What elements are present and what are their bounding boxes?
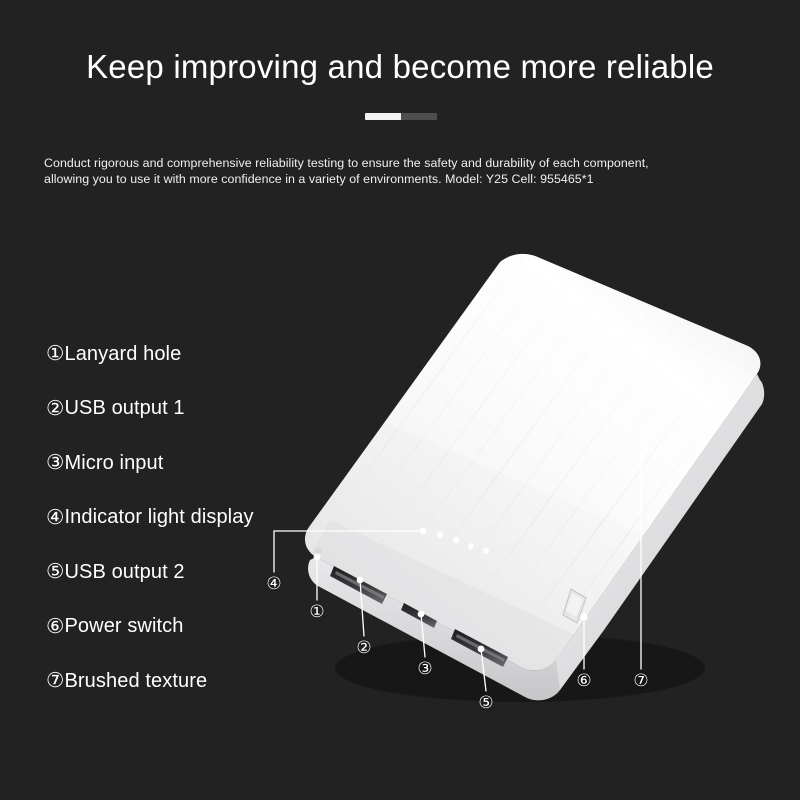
legend-label-7: Brushed texture <box>64 670 207 693</box>
callout-marker-3: ③ <box>415 660 435 677</box>
callout-marker-2: ② <box>354 639 374 656</box>
power-switch-button <box>563 589 586 623</box>
divider-dark-segment <box>401 113 437 120</box>
callout-marker-1: ① <box>307 603 327 620</box>
legend-number-icon-6: ⑥ <box>46 617 64 638</box>
legend-item-micro-input: ③ Micro input <box>46 436 346 491</box>
product-top-face <box>305 254 760 670</box>
legend-number-icon-4: ④ <box>46 508 64 529</box>
leader-line-3 <box>421 614 425 657</box>
callout-marker-5: ⑤ <box>476 694 496 711</box>
page-title: Keep improving and become more reliable <box>0 48 800 86</box>
legend-label-3: Micro input <box>64 452 163 475</box>
legend-item-power-switch: ⑥ Power switch <box>46 600 346 655</box>
product-right-edge <box>556 374 764 690</box>
feature-legend-list: ① Lanyard hole ② USB output 1 ③ Micro in… <box>46 327 346 709</box>
product-drop-shadow <box>335 634 705 702</box>
callout-anchor-dots <box>314 452 645 652</box>
callout-marker-6: ⑥ <box>574 672 594 689</box>
legend-item-indicator-light-display: ④ Indicator light display <box>46 491 346 546</box>
legend-item-usb-output-2: ⑤ USB output 2 <box>46 545 346 600</box>
legend-label-1: Lanyard hole <box>64 343 181 366</box>
description-paragraph: Conduct rigorous and comprehensive relia… <box>44 155 760 187</box>
legend-number-icon-3: ③ <box>46 453 64 474</box>
legend-number-icon-7: ⑦ <box>46 671 64 692</box>
leader-line-2 <box>360 580 364 636</box>
leader-line-5 <box>481 649 486 691</box>
legend-item-lanyard-hole: ① Lanyard hole <box>46 327 346 382</box>
legend-number-icon-5: ⑤ <box>46 562 64 583</box>
legend-label-2: USB output 1 <box>64 397 184 420</box>
title-divider <box>365 113 437 120</box>
divider-light-segment <box>365 113 401 120</box>
legend-label-4: Indicator light display <box>64 506 253 529</box>
legend-label-6: Power switch <box>64 615 183 638</box>
port-usb-output-2 <box>451 629 508 667</box>
legend-item-usb-output-1: ② USB output 1 <box>46 382 346 437</box>
legend-number-icon-2: ② <box>46 399 64 420</box>
infographic-canvas: Keep improving and become more reliable … <box>0 0 800 800</box>
description-line-2: allowing you to use it with more confide… <box>44 171 760 187</box>
callout-marker-4: ④ <box>264 575 284 592</box>
legend-item-brushed-texture: ⑦ Brushed texture <box>46 654 346 709</box>
legend-label-5: USB output 2 <box>64 561 184 584</box>
callout-marker-7: ⑦ <box>631 672 651 689</box>
indicator-light-display <box>420 528 489 554</box>
legend-number-icon-1: ① <box>46 344 64 365</box>
product-front-edge <box>308 557 566 700</box>
port-micro-input <box>401 603 437 628</box>
description-line-1: Conduct rigorous and comprehensive relia… <box>44 155 760 171</box>
